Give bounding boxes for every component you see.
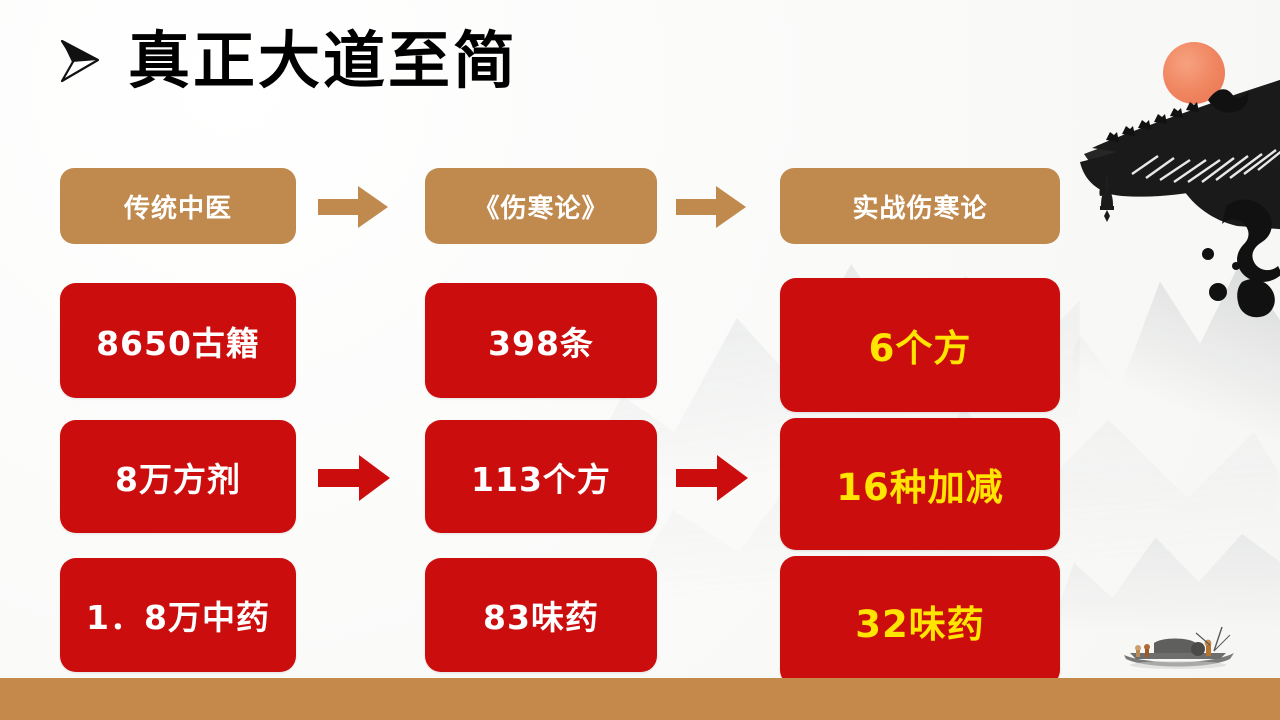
- right-arrow-icon-header-1: [318, 186, 388, 228]
- column-header-shanghan-lun[interactable]: 《伤寒论》: [425, 168, 657, 244]
- cell-shanghan-lun-3[interactable]: 83味药: [425, 558, 657, 672]
- cell-traditional-tcm-1[interactable]: 8650古籍: [60, 283, 296, 398]
- cell-traditional-tcm-2[interactable]: 8万方剂: [60, 420, 296, 533]
- cell-traditional-tcm-3[interactable]: 1．8万中药: [60, 558, 296, 672]
- slide-title-row: 真正大道至简: [58, 30, 518, 92]
- sun-icon: [1163, 42, 1225, 104]
- right-arrow-icon-header-2: [676, 186, 746, 228]
- cell-practical-1[interactable]: 6个方: [780, 278, 1060, 412]
- cell-shanghan-lun-1[interactable]: 398条: [425, 283, 657, 398]
- river-boat-icon: [1118, 625, 1238, 673]
- hanging-bell-icon: [1097, 176, 1117, 222]
- triangle-arrow-bullet-icon: [58, 35, 102, 87]
- column-header-practical-shanghan-lun[interactable]: 实战伤寒论: [780, 168, 1060, 244]
- footer-bar: [0, 678, 1280, 720]
- right-arrow-icon-row2-1: [318, 455, 390, 501]
- cell-practical-3[interactable]: 32味药: [780, 556, 1060, 686]
- slide-canvas: 真正大道至简 传统中医 《伤寒论》 实战伤寒论 8650古籍 398条 6个方 …: [0, 0, 1280, 720]
- page-title: 真正大道至简: [128, 30, 518, 92]
- cell-practical-2[interactable]: 16种加减: [780, 418, 1060, 550]
- chinese-temple-roof-icon: [1062, 70, 1280, 260]
- ink-wash-mountains-low: [1050, 470, 1280, 630]
- ink-wash-mountains-right: [1040, 200, 1280, 440]
- cell-shanghan-lun-2[interactable]: 113个方: [425, 420, 657, 533]
- ink-splatter-icon: [1196, 196, 1280, 321]
- right-arrow-icon-row2-2: [676, 455, 748, 501]
- column-header-traditional-tcm[interactable]: 传统中医: [60, 168, 296, 244]
